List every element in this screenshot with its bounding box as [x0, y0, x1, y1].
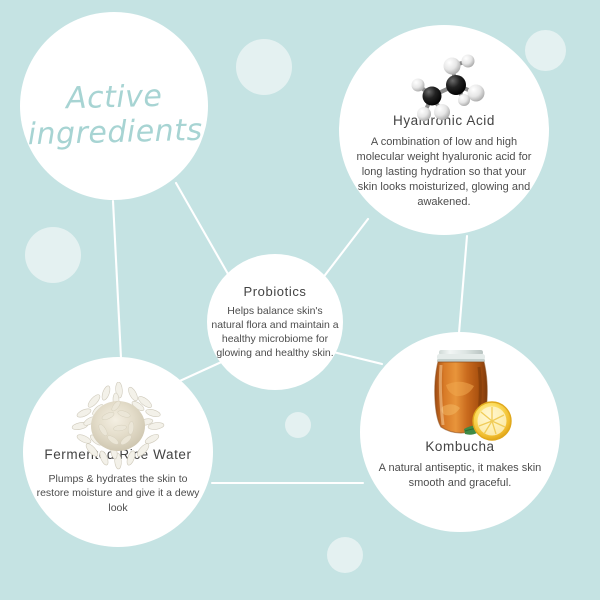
ingredient-card-rice-water[interactable]: Fermented Rice Water Plumps & hydrates t…: [23, 357, 213, 547]
page-title-line1: Active: [65, 78, 162, 116]
connector-hyaluronic-to-kombucha: [459, 236, 467, 333]
ingredient-description-probiotics: Helps balance skin's natural flora and m…: [211, 304, 339, 360]
page-title-line2: ingredients: [27, 113, 203, 153]
connector-title-to-probiotics: [176, 183, 232, 281]
connector-title-to-rice: [113, 201, 121, 358]
ingredient-card-probiotics[interactable]: Probiotics Helps balance skin's natural …: [207, 254, 343, 390]
ingredient-description-hyaluronic: A combination of low and high molecular …: [356, 135, 532, 210]
title-circle: Active ingredients: [20, 12, 208, 200]
ingredient-title-probiotics: Probiotics: [243, 284, 306, 300]
ingredient-description-kombucha: A natural antiseptic, it makes skin smoo…: [376, 461, 544, 491]
page-title: Active ingredients: [25, 59, 202, 152]
ingredient-title-rice-water: Fermented Rice Water: [44, 447, 191, 463]
connector-hyaluronic-to-probiotics: [322, 219, 368, 279]
ingredient-card-kombucha[interactable]: Kombucha A natural antiseptic, it makes …: [360, 332, 560, 532]
ingredient-description-rice-water: Plumps & hydrates the skin to restore mo…: [33, 472, 204, 515]
ingredient-card-hyaluronic[interactable]: Hyaluronic Acid A combination of low and…: [339, 25, 549, 235]
ingredient-title-hyaluronic: Hyaluronic Acid: [393, 113, 495, 129]
ingredient-title-kombucha: Kombucha: [425, 439, 494, 455]
infographic-canvas: Active ingredients Hyaluronic Acid A com…: [0, 0, 600, 600]
